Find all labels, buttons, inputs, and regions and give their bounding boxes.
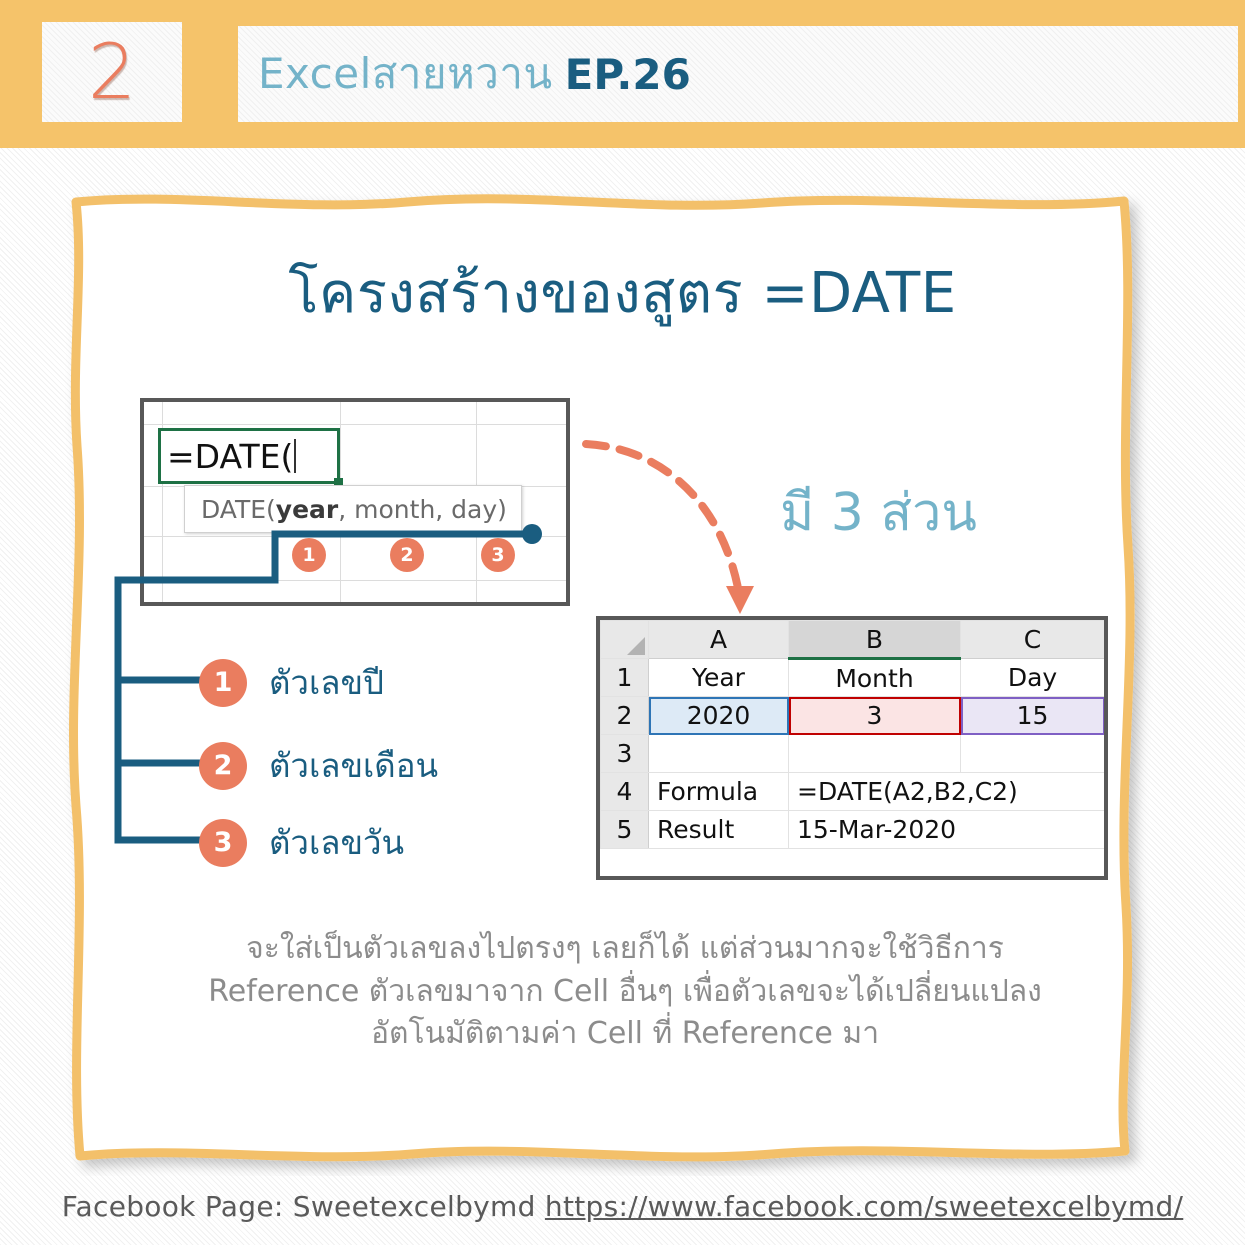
footer-label: Facebook Page: Sweetexcelbymd [62,1190,536,1223]
footer: Facebook Page: Sweetexcelbymd https://ww… [0,1190,1245,1223]
table-row: 2 2020 3 15 [601,697,1105,735]
active-cell[interactable]: =DATE( [158,428,340,484]
column-header-b[interactable]: B [789,621,961,659]
cell-b4[interactable]: =DATE(A2,B2,C2) [789,773,1105,811]
column-header-a[interactable]: A [649,621,789,659]
legend-label-2: ตัวเลขเดือน [269,739,438,792]
cell-c3[interactable] [961,735,1105,773]
table-row: 5 Result 15-Mar-2020 [601,811,1105,849]
page-title: โครงสร้างของสูตร =DATE [0,248,1245,337]
formula-tooltip: DATE(year, month, day) [184,485,522,533]
header-title-episode: EP.26 [565,50,691,99]
text-caret [294,439,296,473]
column-header-row: A B C [601,621,1105,659]
cell-b1[interactable]: Month [789,659,961,697]
slide-number-text: 2 [88,34,136,110]
column-header-c[interactable]: C [961,621,1105,659]
arg-marker-3: 3 [481,538,515,572]
callout-three-parts: มี 3 ส่วน [780,470,977,553]
select-all-corner[interactable] [601,621,649,659]
arg-marker-1: 1 [292,538,326,572]
legend-number-1: 1 [199,659,247,707]
cell-a1[interactable]: Year [649,659,789,697]
excel-example-table: A B C 1 Year Month Day 2 2020 3 15 3 [596,616,1108,880]
footer-url-link[interactable]: https://www.facebook.com/sweetexcelbymd/ [545,1190,1183,1223]
cell-c1[interactable]: Day [961,659,1105,697]
description-line-2: Reference ตัวเลขมาจาก Cell อื่นๆ เพื่อตั… [150,971,1100,1014]
header-title-main: Excelสายหวาน [258,41,553,107]
description-paragraph: จะใส่เป็นตัวเลขลงไปตรงๆ เลยก็ได้ แต่ส่วน… [150,928,1100,1056]
row-header-3[interactable]: 3 [601,735,649,773]
select-all-triangle-icon [627,637,645,655]
table-row: 4 Formula =DATE(A2,B2,C2) [601,773,1105,811]
header-title-box: Excelสายหวาน EP.26 [238,26,1238,122]
cell-a5[interactable]: Result [649,811,789,849]
legend-number-3: 3 [199,819,247,867]
formula-tooltip-text: DATE(year, month, day) [201,495,507,524]
cell-a2[interactable]: 2020 [649,697,789,735]
cell-c2[interactable]: 15 [961,697,1105,735]
table-row: 1 Year Month Day [601,659,1105,697]
row-header-4[interactable]: 4 [601,773,649,811]
cell-b2[interactable]: 3 [789,697,961,735]
cell-b5[interactable]: 15-Mar-2020 [789,811,1105,849]
cell-a4[interactable]: Formula [649,773,789,811]
row-header-2[interactable]: 2 [601,697,649,735]
cell-b3[interactable] [789,735,961,773]
header-band: 2 Excelสายหวาน EP.26 [0,0,1245,148]
excel-formula-screenshot: =DATE( DATE(year, month, day) [140,398,570,606]
slide-number-badge: 2 [42,22,182,122]
legend-item-3: 3 ตัวเลขวัน [199,816,404,869]
row-header-5[interactable]: 5 [601,811,649,849]
description-line-1: จะใส่เป็นตัวเลขลงไปตรงๆ เลยก็ได้ แต่ส่วน… [150,928,1100,971]
arg-marker-2: 2 [390,538,424,572]
tooltip-prefix: DATE( [201,495,276,524]
cell-a3[interactable] [649,735,789,773]
legend-item-2: 2 ตัวเลขเดือน [199,739,438,792]
row-header-1[interactable]: 1 [601,659,649,697]
tooltip-bold-arg: year [276,495,338,524]
legend-item-1: 1 ตัวเลขปี [199,656,384,709]
legend-number-2: 2 [199,742,247,790]
table-row: 3 [601,735,1105,773]
tooltip-suffix: , month, day) [338,495,507,524]
poster-canvas: 2 Excelสายหวาน EP.26 โครงสร้างของสูตร =D… [0,0,1245,1245]
description-line-3: อัตโนมัติตามค่า Cell ที่ Reference มา [150,1013,1100,1056]
active-cell-text: =DATE( [167,437,293,476]
legend-label-3: ตัวเลขวัน [269,816,404,869]
legend-label-1: ตัวเลขปี [269,656,384,709]
